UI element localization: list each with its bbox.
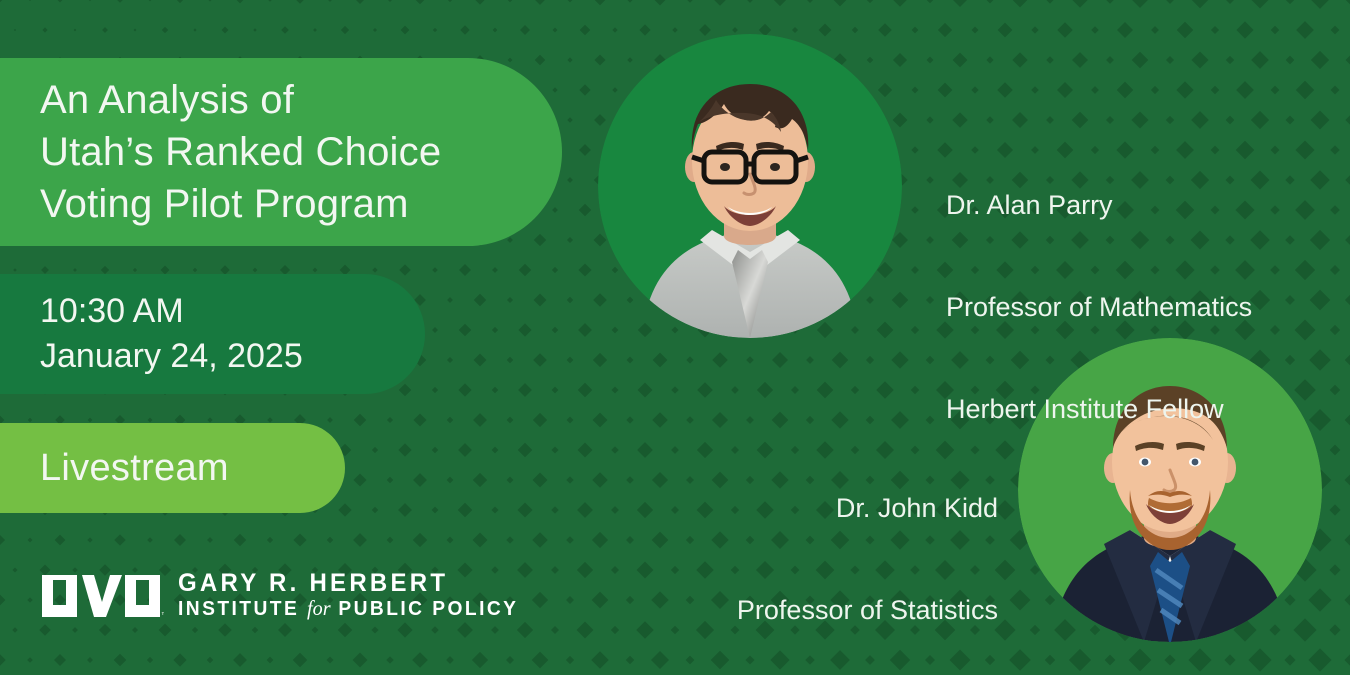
speaker-name: Dr. Alan Parry	[946, 188, 1252, 222]
logo-for-italic: for	[307, 596, 331, 620]
logo-line-2-before: INSTITUTE	[178, 598, 307, 620]
event-title: An Analysis of Utah’s Ranked Choice Voti…	[40, 74, 441, 230]
logo-line-1: GARY R. HERBERT	[178, 570, 518, 596]
speaker-affiliation: Herbert Institute Fellow	[946, 392, 1252, 426]
uvu-herbert-institute-logo: ™ GARY R. HERBERT INSTITUTE for PUBLIC P…	[40, 570, 533, 621]
speaker-role: Professor of Mathematics	[946, 290, 1252, 324]
logo-line-2-after: PUBLIC POLICY	[331, 598, 519, 620]
speaker-caption-john-kidd: Dr. John Kidd Professor of Statistics He…	[720, 423, 998, 675]
uvu-wordmark-icon: ™	[40, 573, 164, 619]
event-time: 10:30 AM	[40, 292, 184, 330]
svg-text:™: ™	[161, 612, 164, 619]
event-format-label: Livestream	[40, 447, 229, 490]
speaker-name: Dr. John Kidd	[720, 491, 998, 525]
event-datetime-pill: 10:30 AM January 24, 2025	[0, 274, 425, 394]
avatar-alan-parry	[598, 34, 902, 338]
event-poster: An Analysis of Utah’s Ranked Choice Voti…	[0, 0, 1350, 675]
event-format-pill: Livestream	[0, 423, 345, 513]
event-date: January 24, 2025	[40, 337, 303, 375]
speaker-role: Professor of Statistics	[720, 593, 998, 627]
logo-line-2: INSTITUTE for PUBLIC POLICY	[178, 596, 518, 621]
event-datetime: 10:30 AM January 24, 2025	[40, 289, 303, 379]
event-title-pill: An Analysis of Utah’s Ranked Choice Voti…	[0, 58, 562, 246]
logo-wordmark-text: GARY R. HERBERT INSTITUTE for PUBLIC POL…	[178, 570, 533, 621]
